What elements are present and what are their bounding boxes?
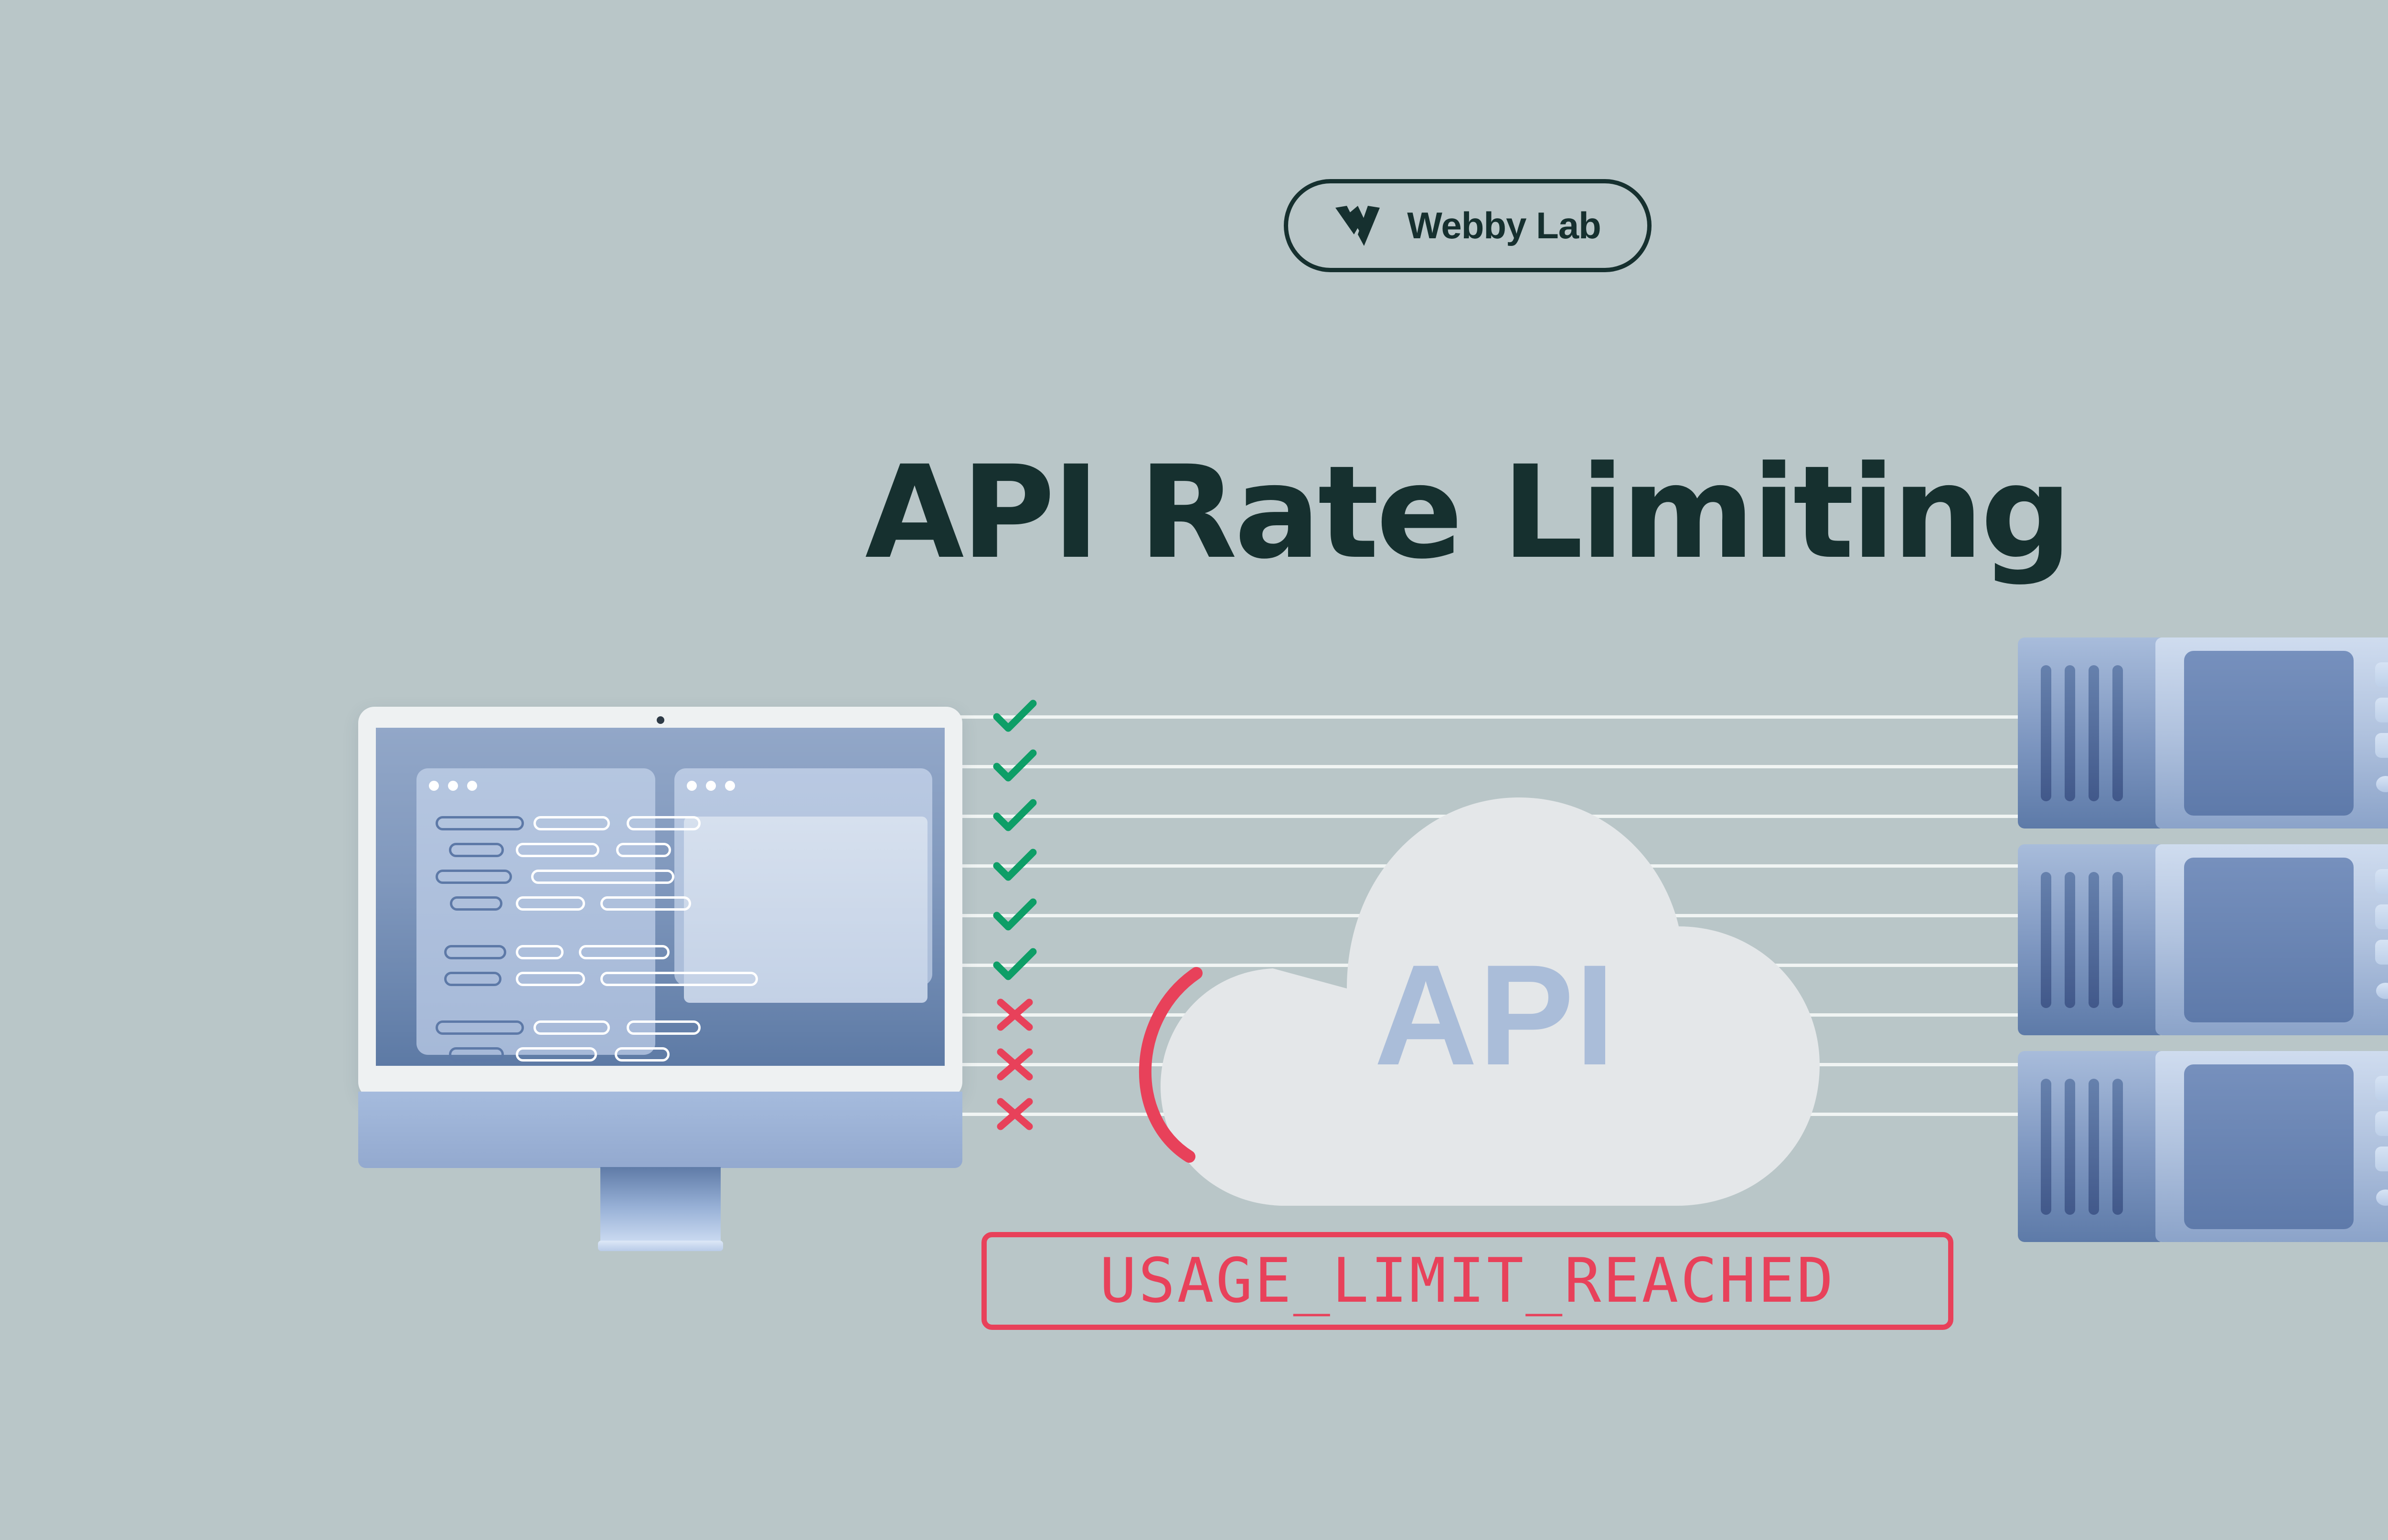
vent-bar-icon	[2065, 665, 2075, 801]
server-button-grid	[2375, 662, 2388, 758]
server-button-icon	[2375, 662, 2388, 687]
server-vent-panel	[2018, 637, 2166, 828]
server-display-icon	[2184, 1064, 2354, 1229]
monitor-stand	[600, 1167, 721, 1243]
monitor-screen	[376, 728, 945, 1066]
close-dot-icon[interactable]	[429, 781, 439, 791]
code-token-pill	[533, 816, 610, 830]
server-face-panel	[2155, 637, 2388, 828]
error-badge: USAGE_LIMIT_REACHED	[981, 1232, 1953, 1330]
code-gutter-pill	[444, 972, 501, 986]
vent-bar-icon	[2112, 872, 2123, 1008]
code-token-pill	[516, 945, 564, 959]
close-dot-icon[interactable]	[687, 781, 697, 791]
server-button-icon	[2375, 1147, 2388, 1171]
server-face-panel	[2155, 1051, 2388, 1242]
maximize-dot-icon[interactable]	[725, 781, 735, 791]
code-token-pill	[627, 1020, 701, 1035]
code-editor-window	[416, 768, 655, 1055]
server-button-grid	[2375, 869, 2388, 965]
server-rack	[2018, 637, 2388, 1242]
request-status-marks	[991, 707, 1082, 1160]
brand-logo: Webby Lab	[1284, 179, 1652, 272]
vent-bar-icon	[2041, 872, 2051, 1008]
code-gutter-pill	[444, 945, 506, 959]
code-gutter-pill	[449, 843, 504, 857]
vent-bar-icon	[2112, 1079, 2123, 1215]
code-token-pill	[516, 1047, 597, 1062]
vent-bar-icon	[2065, 872, 2075, 1008]
monitor-body	[358, 707, 962, 1098]
vent-bar-icon	[2065, 1079, 2075, 1215]
server-unit	[2018, 637, 2388, 828]
vent-bar-icon	[2089, 872, 2099, 1008]
code-gutter-pill	[436, 870, 512, 884]
code-token-pill	[533, 1020, 610, 1035]
cross-icon	[991, 1041, 1039, 1088]
code-gutter-pill	[436, 1020, 524, 1035]
check-icon	[991, 792, 1039, 840]
vent-bar-icon	[2089, 665, 2099, 801]
server-unit	[2018, 844, 2388, 1035]
minimize-dot-icon[interactable]	[448, 781, 458, 791]
vent-bar-icon	[2041, 665, 2051, 801]
vent-bar-icon	[2041, 1079, 2051, 1215]
code-token-pill	[616, 843, 671, 857]
webby-lab-chevron-mark-icon	[1334, 205, 1391, 247]
server-face-panel	[2155, 844, 2388, 1035]
monitor-chin	[358, 1092, 962, 1168]
server-vent-panel	[2018, 844, 2166, 1035]
window-controls	[429, 781, 477, 791]
check-icon	[991, 892, 1039, 939]
check-icon	[991, 693, 1039, 741]
server-button-icon	[2375, 698, 2388, 722]
client-monitor	[358, 707, 962, 1225]
server-button-grid	[2375, 1076, 2388, 1171]
monitor-foot	[598, 1241, 723, 1251]
cloud-label: API	[1141, 943, 1848, 1086]
server-button-icon	[2375, 904, 2388, 929]
check-icon	[991, 743, 1039, 790]
server-led-icon	[2376, 776, 2388, 792]
window-controls	[687, 781, 735, 791]
code-token-pill	[516, 972, 585, 986]
cross-icon	[991, 1090, 1039, 1138]
server-button-icon	[2375, 733, 2388, 758]
check-icon	[991, 941, 1039, 989]
server-button-icon	[2375, 1111, 2388, 1136]
code-token-pill	[627, 816, 701, 830]
brand-name: Webby Lab	[1407, 204, 1601, 247]
server-display-icon	[2184, 858, 2354, 1022]
server-led-row	[2376, 776, 2388, 792]
code-token-pill	[516, 896, 585, 911]
vent-bar-icon	[2112, 665, 2123, 801]
code-token-pill	[579, 945, 670, 959]
code-token-pill	[600, 896, 691, 911]
server-led-row	[2376, 1190, 2388, 1206]
cross-icon	[991, 991, 1039, 1039]
code-token-pill	[531, 870, 674, 884]
error-code: USAGE_LIMIT_REACHED	[1099, 1245, 1835, 1317]
webcam-icon	[657, 716, 664, 724]
check-icon	[991, 842, 1039, 890]
code-token-pill	[516, 843, 599, 857]
code-gutter-pill	[449, 1047, 504, 1062]
rate-limit-arc-icon	[1098, 960, 1242, 1170]
page-title: API Rate Limiting	[0, 449, 2388, 577]
code-token-pill	[615, 1047, 670, 1062]
server-unit	[2018, 1051, 2388, 1242]
server-led-icon	[2376, 983, 2388, 999]
code-token-pill	[600, 972, 758, 986]
server-led-row	[2376, 983, 2388, 999]
api-cloud: API	[1141, 702, 1848, 1256]
code-gutter-pill	[450, 896, 502, 911]
server-led-icon	[2376, 1190, 2388, 1206]
maximize-dot-icon[interactable]	[467, 781, 477, 791]
illustration-canvas: Webby Lab API Rate Limiting	[0, 0, 2388, 1540]
server-vent-panel	[2018, 1051, 2166, 1242]
vent-bar-icon	[2089, 1079, 2099, 1215]
server-button-icon	[2375, 1076, 2388, 1101]
code-gutter-pill	[436, 816, 524, 830]
minimize-dot-icon[interactable]	[706, 781, 716, 791]
server-display-icon	[2184, 651, 2354, 816]
server-button-icon	[2375, 869, 2388, 894]
server-button-icon	[2375, 940, 2388, 965]
